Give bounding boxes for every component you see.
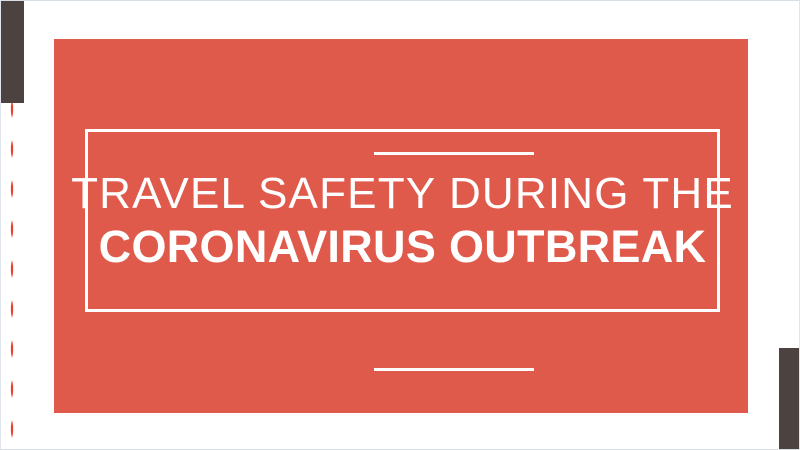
presentation-slide: TRAVEL SAFETY DURING THE CORONAVIRUS OUT… bbox=[0, 0, 800, 450]
accent-block-bottom-right bbox=[779, 348, 800, 450]
accent-block-top-left bbox=[0, 0, 24, 103]
slide-title-line-2: CORONAVIRUS OUTBREAK bbox=[99, 223, 707, 270]
slide-title-block: TRAVEL SAFETY DURING THE CORONAVIRUS OUT… bbox=[85, 129, 720, 312]
bottom-divider-rule bbox=[374, 368, 534, 371]
slide-title-line-1: TRAVEL SAFETY DURING THE bbox=[71, 171, 734, 217]
dot-pattern-top-row bbox=[1, 7, 800, 13]
dot-pattern-bottom-row bbox=[1, 439, 800, 445]
